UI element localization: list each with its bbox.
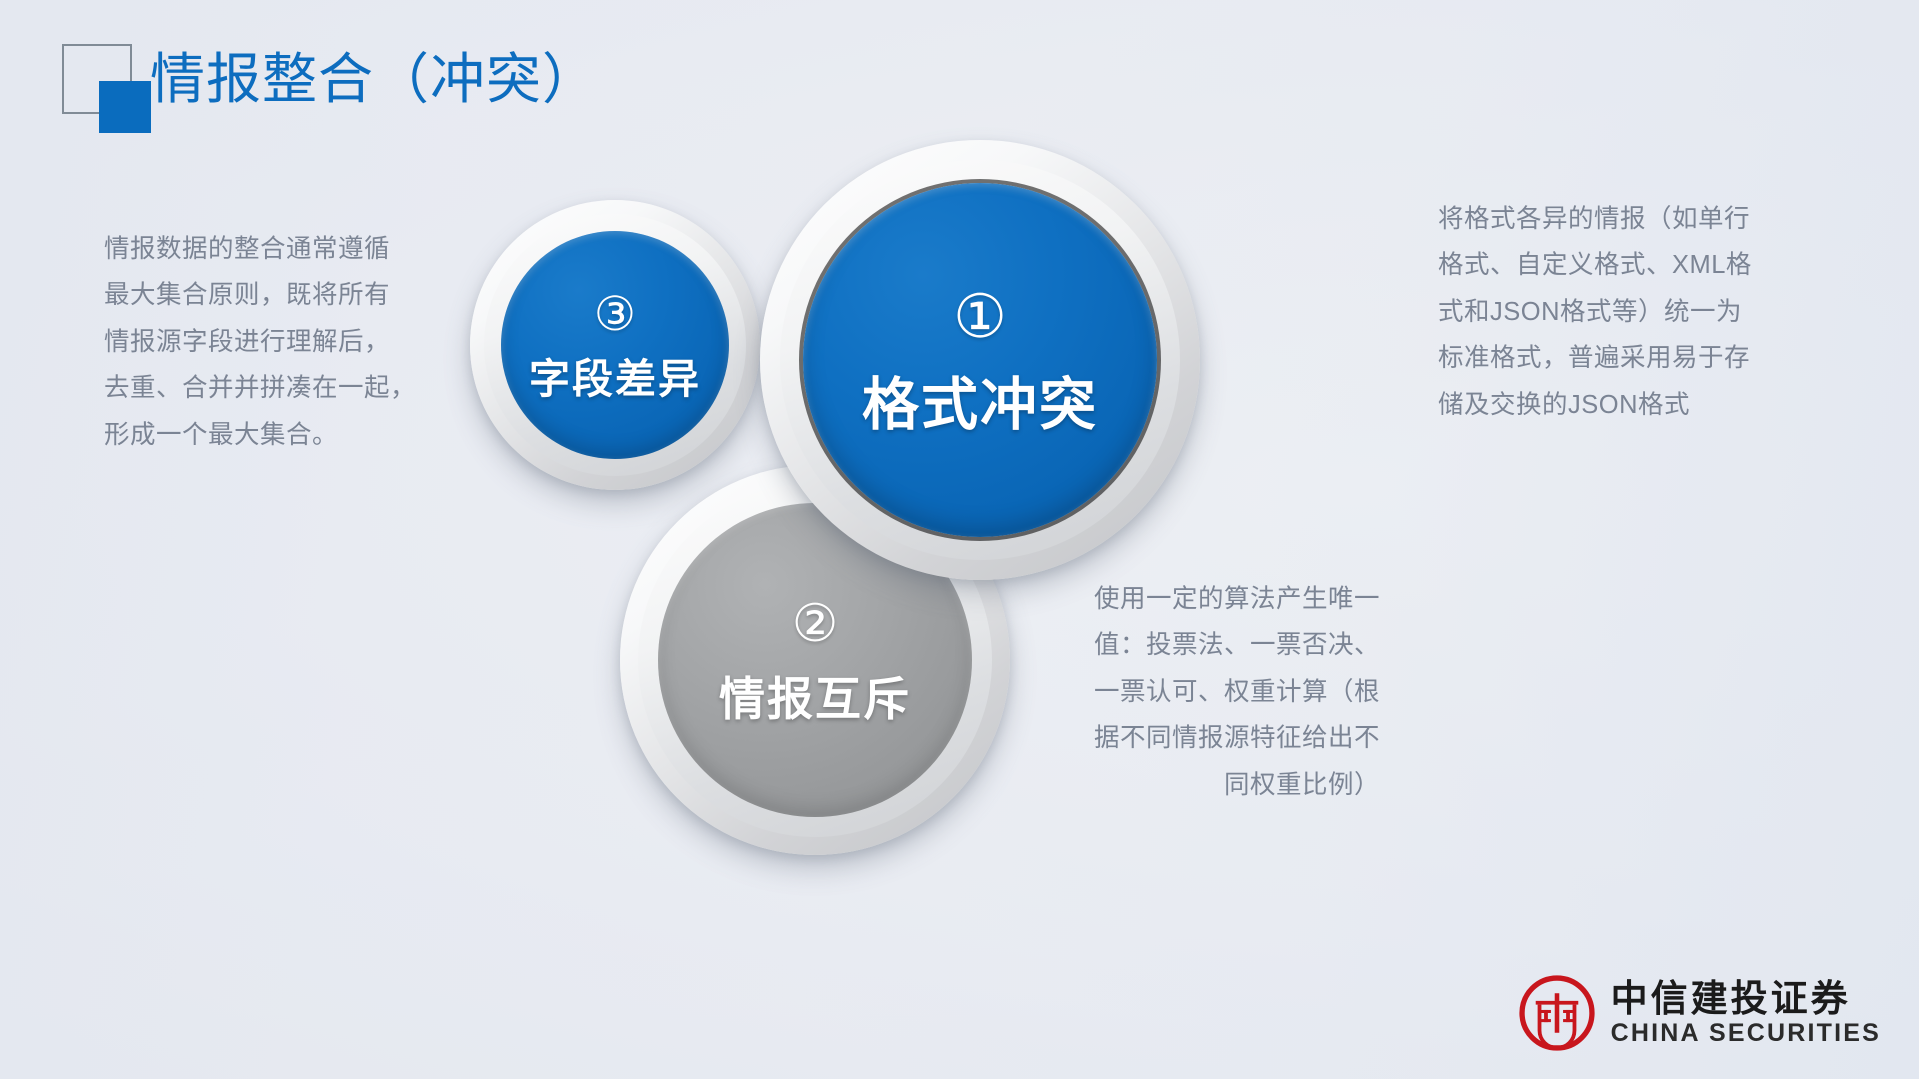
paragraph-right-bottom: 使用一定的算法产生唯一 值：投票法、一票否决、 一票认可、权重计算（根 据不同情… (1080, 576, 1380, 808)
paragraph-right-top-line: 储及交换的JSON格式 (1438, 382, 1768, 428)
circle-1-number: ① (953, 287, 1007, 347)
circle-2-number: ② (792, 598, 839, 650)
logo-name-cn: 中信建投证券 (1611, 979, 1881, 1019)
circle-1-caption: 格式冲突 (862, 377, 1098, 434)
paragraph-left-line: 情报数据的整合通常遵循 (104, 226, 404, 272)
circle-3-number: ③ (594, 290, 636, 337)
circle-1-disc: ① 格式冲突 (803, 183, 1157, 537)
circle-3-caption: 字段差异 (529, 359, 701, 400)
paragraph-left-line: 最大集合原则，既将所有 (104, 272, 404, 318)
paragraph-right-bottom-line: 据不同情报源特征给出不 (1080, 715, 1380, 761)
page-title: 情报整合（冲突） (150, 48, 598, 111)
diagram-circle-3[interactable]: ③ 字段差异 (470, 200, 760, 490)
paragraph-left-line: 形成一个最大集合。 (104, 412, 404, 458)
circle-3-disc: ③ 字段差异 (501, 231, 729, 459)
paragraph-left-line: 去重、合并并拼凑在一起， (104, 365, 404, 411)
diagram-circle-1[interactable]: ① 格式冲突 (760, 140, 1200, 580)
paragraph-right-bottom-line: 一票认可、权重计算（根 (1080, 669, 1380, 715)
paragraph-left-line: 情报源字段进行理解后， (104, 319, 404, 365)
paragraph-right-top-line: 式和JSON格式等）统一为 (1438, 289, 1768, 335)
logo-name-en: CHINA SECURITIES (1611, 1019, 1881, 1048)
paragraph-right-top-line: 格式、自定义格式、XML格 (1438, 242, 1768, 288)
paragraph-right-bottom-line: 使用一定的算法产生唯一 (1080, 576, 1380, 622)
paragraph-right-top-line: 标准格式，普遍采用易于存 (1438, 335, 1768, 381)
paragraph-right-top: 将格式各异的情报（如单行 格式、自定义格式、XML格 式和JSON格式等）统一为… (1438, 196, 1768, 428)
slide: 情报整合（冲突） 情报数据的整合通常遵循 最大集合原则，既将所有 情报源字段进行… (0, 0, 1919, 1079)
citic-logo-icon (1519, 975, 1595, 1051)
logo-text: 中信建投证券 CHINA SECURITIES (1611, 979, 1881, 1048)
paragraph-right-top-line: 将格式各异的情报（如单行 (1438, 196, 1768, 242)
company-logo: 中信建投证券 CHINA SECURITIES (1519, 975, 1881, 1051)
circle-2-caption: 情报互斥 (719, 676, 911, 722)
paragraph-left: 情报数据的整合通常遵循 最大集合原则，既将所有 情报源字段进行理解后， 去重、合… (104, 226, 404, 458)
paragraph-right-bottom-line: 值：投票法、一票否决、 (1080, 622, 1380, 668)
paragraph-right-bottom-line: 同权重比例） (1080, 762, 1380, 808)
decoration-filled-square (99, 81, 151, 133)
